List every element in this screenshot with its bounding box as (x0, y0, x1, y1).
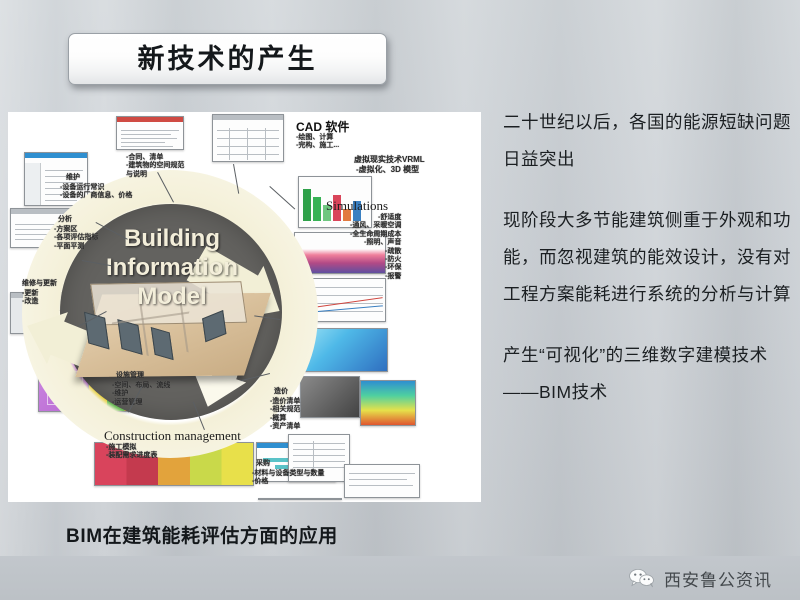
label-construction-items: -施工模拟 -装配需求进度表 (106, 444, 157, 461)
label-simulations-items: -舒适度 -通风、采暖空调 -全生命周期成本 -照明、声音 -疏散 -防火 -环… (350, 214, 401, 281)
label-cad-title: CAD 软件 (296, 118, 349, 135)
label-simulations-title: Simulations (326, 198, 388, 214)
label-analysis-title: 分析 (58, 216, 72, 224)
label-maintenance-title: 维护 (66, 174, 80, 182)
label-update-items: -更新 -改造 (22, 290, 38, 307)
mini-divider (258, 498, 342, 500)
wechat-icon (629, 568, 655, 588)
mini-screenshot-cad-drawing (212, 114, 284, 162)
label-vrml-items: -虚拟化、3D 模型 (356, 166, 419, 174)
window-body (117, 122, 183, 150)
label-construction-title: Construction management (104, 428, 241, 444)
paragraph-1: 二十世纪以后，各国的能源短缺问题日益突出 (503, 104, 793, 178)
label-procurement-title: 采购 (256, 460, 270, 468)
label-analysis-items: -方案区 -各项评估指标 -平面平测 (54, 226, 98, 251)
footer-bar: 西安鲁公资讯 (0, 556, 800, 600)
label-maintenance-items: -设备运行常识 -设备的厂商信息、价格 (60, 184, 132, 201)
label-procurement-items: -材料与设备类型与数量 -价格 (252, 470, 324, 487)
label-cost-items: -造价清单 -相关规范 -概算 -资产清单 (270, 398, 300, 432)
mini-screenshot-heatmap (360, 380, 416, 426)
page-title: 新技术的产生 (138, 46, 318, 73)
figure-caption: BIM在建筑能耗评估方面的应用 (66, 521, 338, 548)
paragraph-2: 现阶段大多节能建筑侧重于外观和功能，而忽视建筑的能效设计，没有对工程方案能耗进行… (503, 202, 793, 313)
label-cost-title: 造价 (274, 388, 288, 396)
label-vrml-title: 虚拟现实技术VRML (354, 156, 425, 164)
wechat-account[interactable]: 西安鲁公资讯 (629, 566, 772, 591)
label-cad-items: -绘图、计算 -完构、施工... (296, 134, 339, 151)
wechat-account-name: 西安鲁公资讯 (664, 566, 772, 591)
body-text-column: 二十世纪以后，各国的能源短缺问题日益突出 现阶段大多节能建筑侧重于外观和功能，而… (503, 104, 793, 411)
paragraph-3: 产生“可视化”的三维数字建模技术——BIM技术 (503, 337, 793, 411)
mini-screenshot-procurement (344, 464, 420, 498)
label-document-items: -合同、清单 -建筑物的空间规范 与说明 (126, 154, 184, 179)
mini-screenshot-document (116, 116, 184, 150)
label-update-title: 维修与更新 (22, 280, 57, 288)
bim-diagram-panel: Building Information Model CAD 软件 -绘图、计算… (8, 112, 481, 502)
label-facility-title: 设施管理 (116, 372, 144, 380)
slide-title-box: 新技术的产生 (68, 33, 387, 85)
